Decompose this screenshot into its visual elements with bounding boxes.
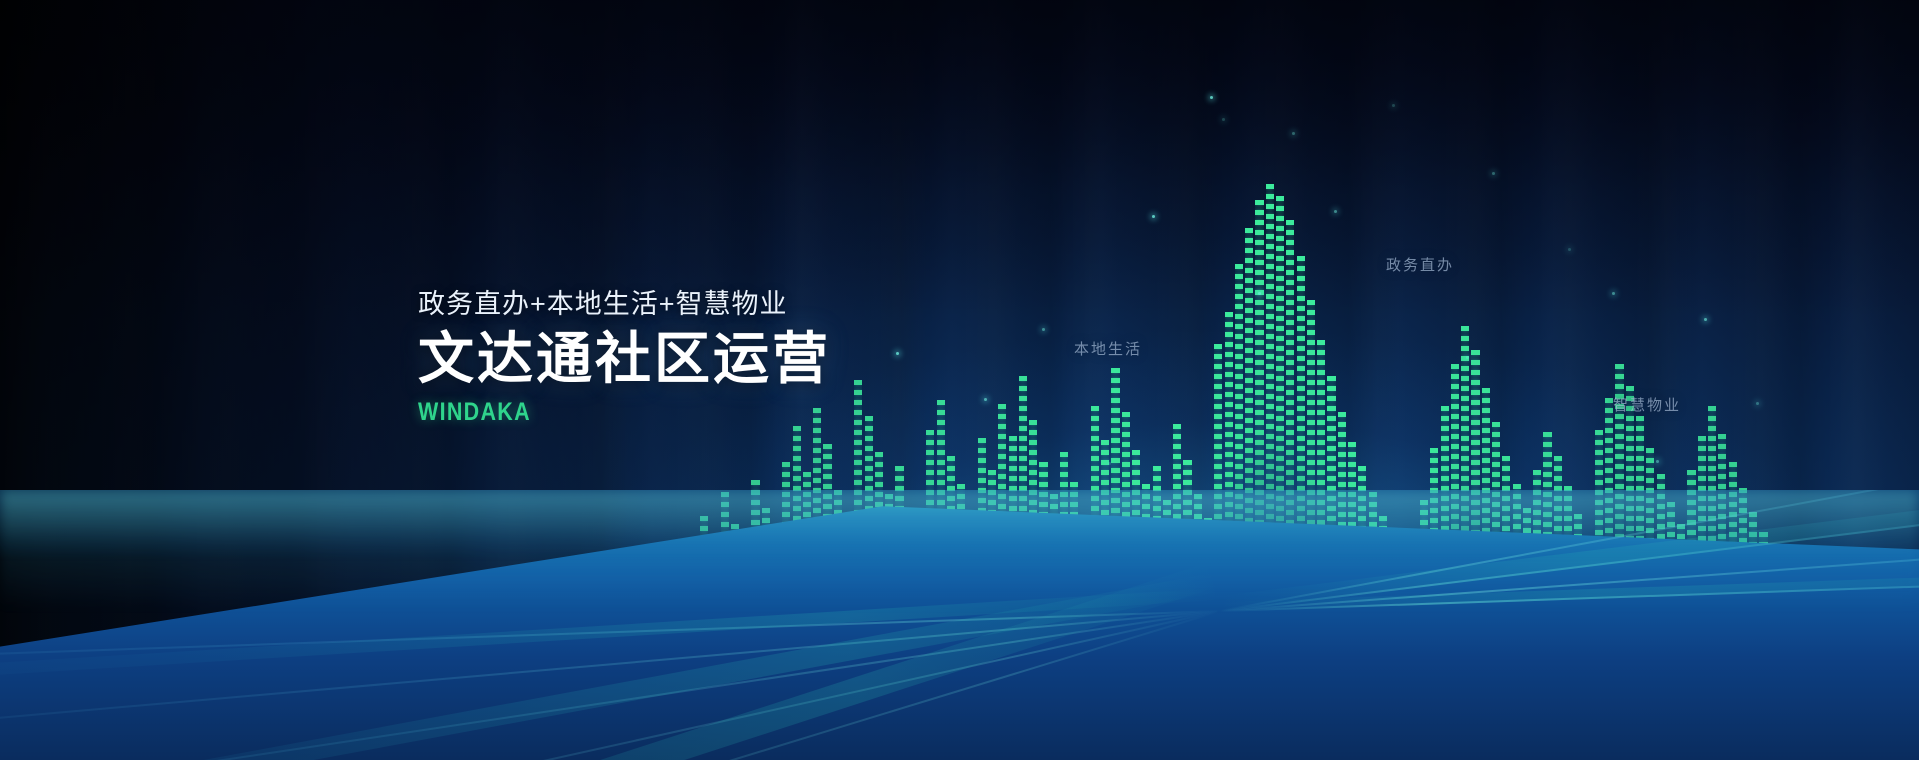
horizon-haze bbox=[0, 490, 1919, 610]
particle-dot bbox=[1292, 132, 1295, 135]
banner-subtitle: 政务直办+本地生活+智慧物业 bbox=[418, 290, 1038, 320]
particle-dot bbox=[1210, 96, 1213, 99]
category-label: 本地生活 bbox=[1074, 338, 1142, 359]
particle-dot bbox=[1222, 118, 1225, 121]
particle-dot bbox=[1568, 248, 1571, 251]
particle-dot bbox=[1466, 356, 1469, 359]
category-label: 智慧物业 bbox=[1613, 394, 1681, 415]
copy-block: 政务直办+本地生活+智慧物业 文达通社区运营 WINDAKA bbox=[418, 290, 1038, 427]
particle-dot bbox=[1042, 328, 1045, 331]
particle-dot bbox=[1334, 210, 1337, 213]
brand-wordmark: WINDAKA bbox=[418, 398, 951, 427]
particle-dot bbox=[1392, 104, 1395, 107]
particle-dot bbox=[1258, 292, 1261, 295]
category-label: 政务直办 bbox=[1386, 254, 1454, 275]
particle-dot bbox=[1492, 172, 1495, 175]
particle-dot bbox=[1704, 318, 1707, 321]
banner-headline: 文达通社区运营 bbox=[418, 328, 1038, 391]
particle-dot bbox=[1612, 292, 1615, 295]
perspective-ground bbox=[0, 490, 1919, 760]
particle-dot bbox=[1108, 462, 1111, 465]
particle-dot bbox=[1152, 215, 1155, 218]
particle-dot bbox=[1756, 402, 1759, 405]
particle-dot bbox=[1656, 460, 1659, 463]
promo-banner: 政务直办本地生活智慧物业 政务直办+本地生活+智慧物业 文达通社区运营 WIND… bbox=[0, 0, 1919, 760]
